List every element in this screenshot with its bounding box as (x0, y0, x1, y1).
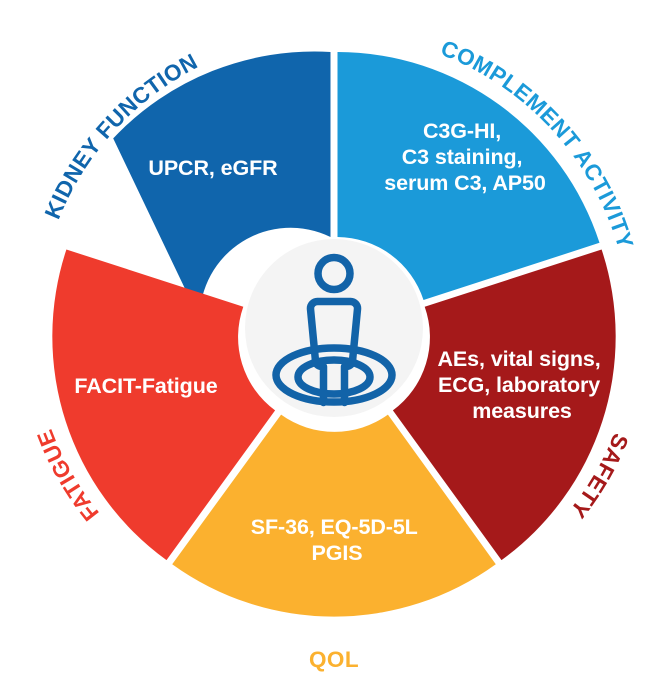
wheel-svg: UPCR, eGFR C3G-HI, C3 staining, serum C3… (0, 0, 667, 673)
segment-kidney-function-text: UPCR, eGFR (148, 156, 278, 180)
segment-fatigue-text: FACIT-Fatigue (74, 374, 217, 398)
endpoint-wheel-diagram: UPCR, eGFR C3G-HI, C3 staining, serum C3… (0, 0, 667, 673)
outer-label-qol: QOL (309, 647, 359, 672)
